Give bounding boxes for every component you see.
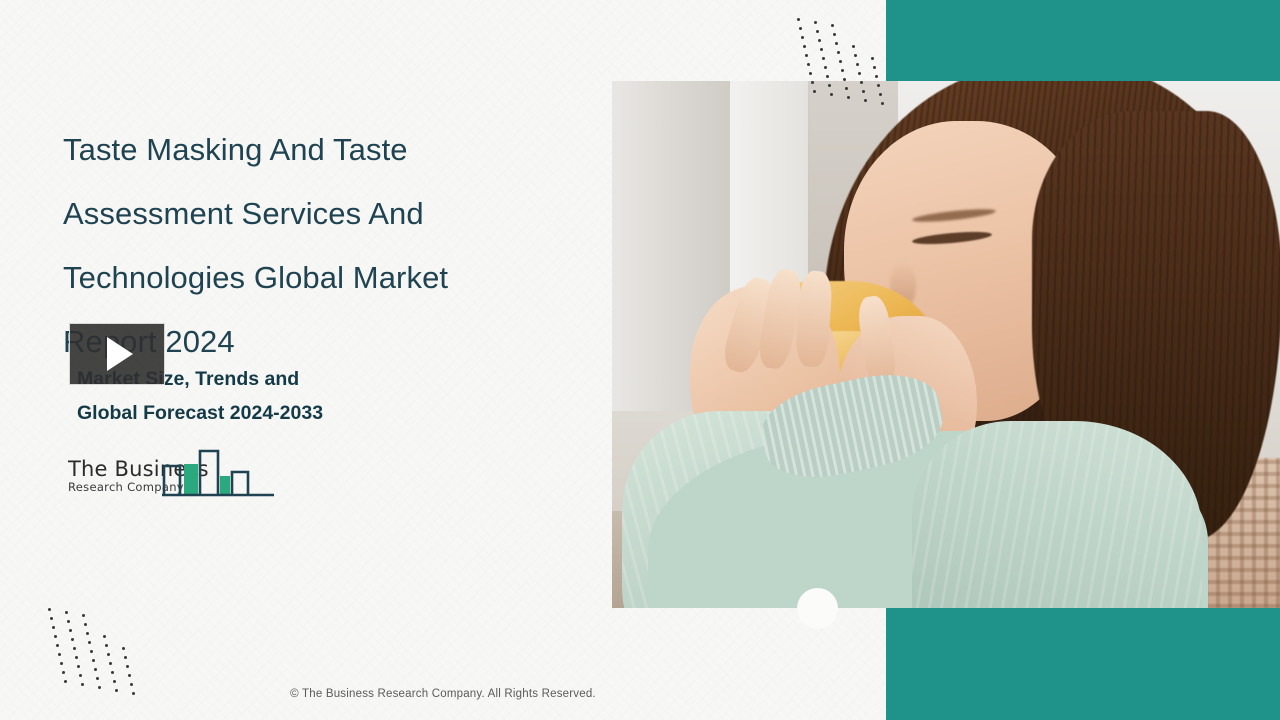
footer-copyright: © The Business Research Company. All Rig… bbox=[0, 688, 886, 700]
play-triangle-icon bbox=[107, 337, 133, 371]
logo-bar-chart-icon bbox=[162, 448, 277, 510]
teal-band-top bbox=[886, 0, 1280, 81]
decorative-circle bbox=[797, 588, 838, 629]
decorative-dots-bottom-left bbox=[48, 608, 138, 693]
subtitle-line-2: Global Forecast 2024-2033 bbox=[77, 396, 497, 430]
company-logo[interactable]: The Business Research Company bbox=[64, 448, 279, 513]
decorative-dots-top-right bbox=[797, 18, 887, 103]
play-button[interactable] bbox=[69, 323, 165, 385]
hero-photo-woman-eating-sandwich bbox=[612, 81, 1280, 608]
presentation-slide: Taste Masking And Taste Assessment Servi… bbox=[0, 0, 1280, 720]
teal-band-bottom bbox=[886, 607, 1280, 720]
